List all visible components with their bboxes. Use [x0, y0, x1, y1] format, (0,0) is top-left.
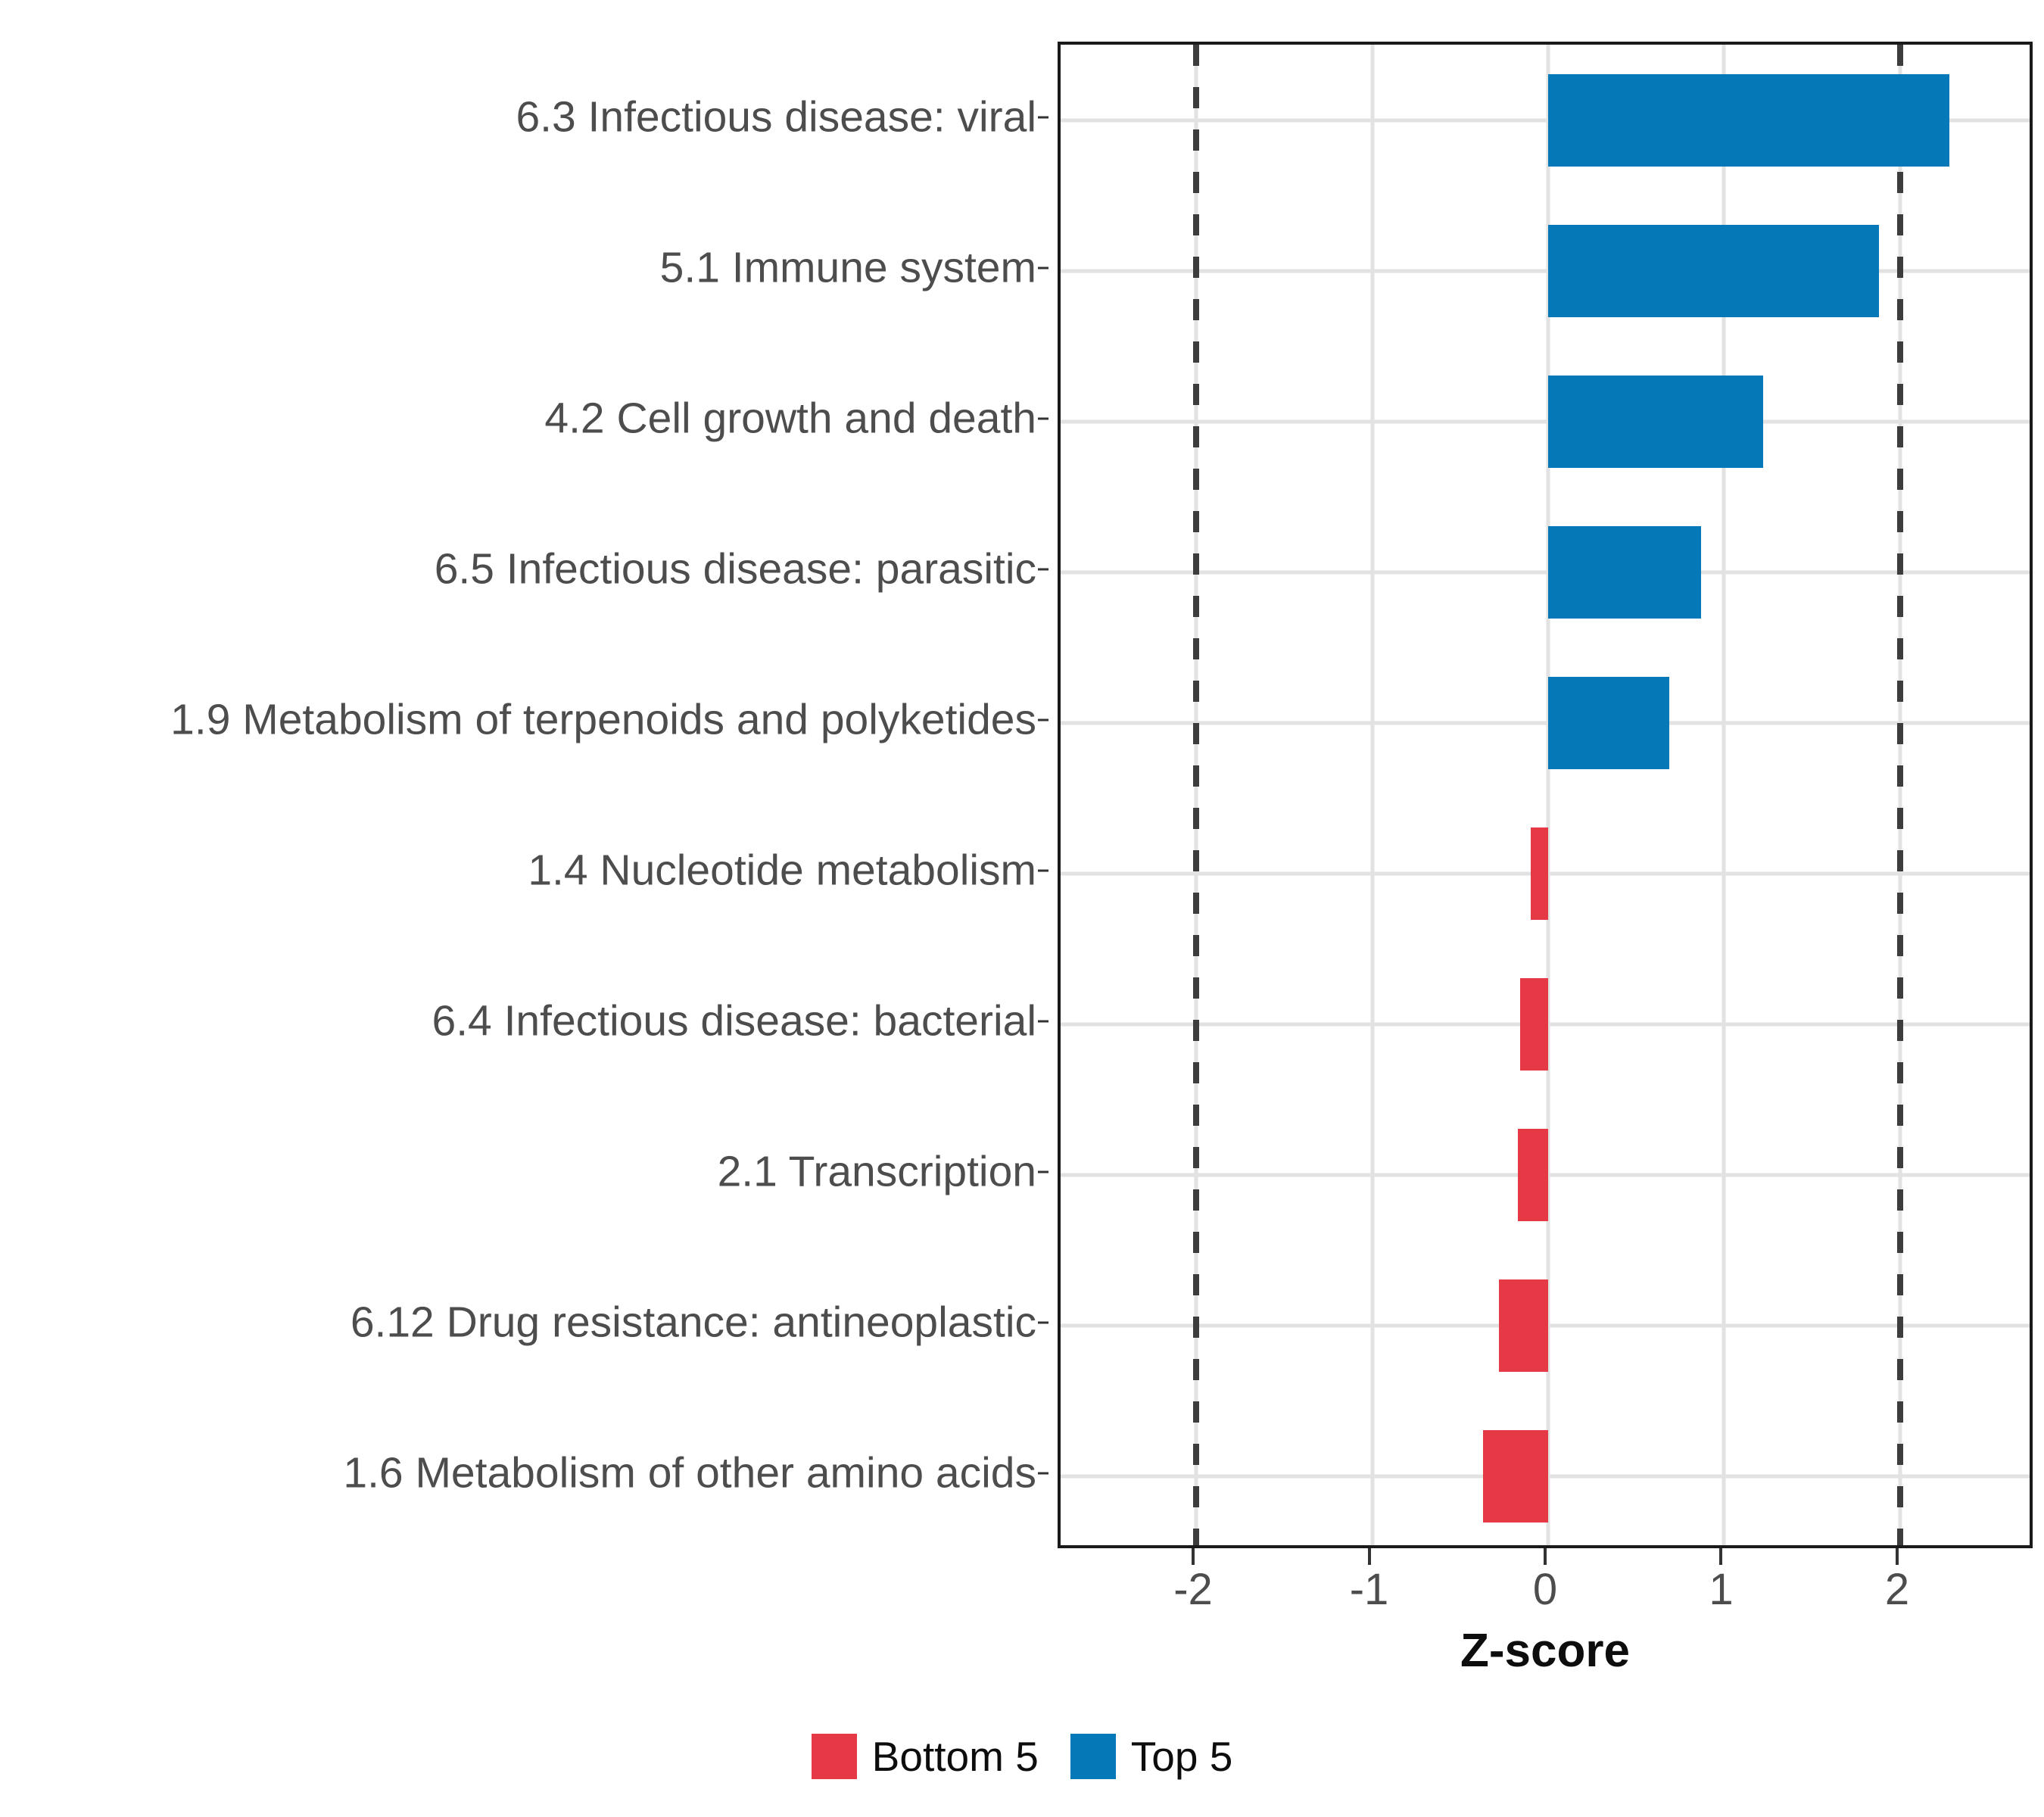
bar [1518, 1129, 1548, 1221]
y-axis-tick-label: 6.3 Infectious disease: viral [7, 95, 1036, 139]
legend-color-swatch [1070, 1734, 1116, 1779]
y-axis-tick-mark [1038, 1020, 1048, 1022]
y-axis-tick-mark [1038, 718, 1048, 721]
x-axis-tick-mark [1544, 1548, 1547, 1565]
y-axis-tick-label: 4.2 Cell growth and death [7, 397, 1036, 440]
bar [1499, 1279, 1548, 1372]
x-axis-title: Z-score [1058, 1628, 2033, 1675]
legend-label: Top 5 [1131, 1736, 1233, 1778]
bar [1548, 677, 1669, 769]
x-axis-tick-label: 1 [1709, 1568, 1733, 1612]
x-axis-tick-mark [1368, 1548, 1371, 1565]
legend-entry: Top 5 [1070, 1734, 1233, 1779]
legend-color-swatch [812, 1734, 857, 1779]
reference-line [1193, 45, 1199, 1545]
gridline-horizontal [1061, 269, 2030, 273]
y-axis-tick-mark [1038, 869, 1048, 871]
y-axis-tick-label: 1.9 Metabolism of terpenoids and polyket… [7, 698, 1036, 741]
y-axis-tick-mark [1038, 417, 1048, 419]
y-axis-tick-label: 6.12 Drug resistance: antineoplastic [7, 1301, 1036, 1344]
y-axis-tick-label: 1.4 Nucleotide metabolism [7, 849, 1036, 892]
bar [1520, 978, 1548, 1071]
plot-panel [1058, 42, 2033, 1548]
reference-line [1897, 45, 1903, 1545]
y-axis-tick-mark [1038, 568, 1048, 570]
x-axis-tick-mark [1192, 1548, 1195, 1565]
gridline-vertical [1370, 45, 1374, 1545]
y-axis-tick-label: 6.4 Infectious disease: bacterial [7, 999, 1036, 1043]
x-axis-tick-mark [1896, 1548, 1899, 1565]
x-axis-tick-label: 0 [1533, 1568, 1557, 1612]
y-axis-tick-label: 5.1 Immune system [7, 246, 1036, 289]
gridline-horizontal [1061, 570, 2030, 574]
bar [1531, 827, 1548, 920]
bar-chart-figure: 6.3 Infectious disease: viral5.1 Immune … [0, 0, 2044, 1817]
y-axis-tick-label: 2.1 Transcription [7, 1150, 1036, 1193]
y-axis-tick-mark [1038, 116, 1048, 118]
x-axis-tick-label: -1 [1350, 1568, 1389, 1612]
legend-entry: Bottom 5 [812, 1734, 1039, 1779]
bar [1548, 526, 1701, 619]
x-axis-tick-label: -2 [1173, 1568, 1213, 1612]
gridline-horizontal [1061, 419, 2030, 423]
bar [1548, 74, 1949, 167]
bar [1548, 376, 1763, 468]
gridline-horizontal [1061, 721, 2030, 725]
bar [1483, 1430, 1548, 1522]
y-axis-tick-mark [1038, 1472, 1048, 1474]
y-axis-tick-mark [1038, 1170, 1048, 1173]
y-axis-tick-mark [1038, 266, 1048, 269]
y-axis-tick-label: 1.6 Metabolism of other amino acids [7, 1451, 1036, 1494]
bar [1548, 225, 1879, 317]
y-axis-tick-label: 6.5 Infectious disease: parasitic [7, 547, 1036, 591]
y-axis-label-column: 6.3 Infectious disease: viral5.1 Immune … [0, 42, 1048, 1548]
x-axis-tick-label: 2 [1885, 1568, 1909, 1612]
legend-label: Bottom 5 [872, 1736, 1039, 1778]
y-axis-tick-mark [1038, 1321, 1048, 1323]
chart-legend: Bottom 5Top 5 [0, 1734, 2044, 1779]
x-axis-tick-mark [1719, 1548, 1722, 1565]
